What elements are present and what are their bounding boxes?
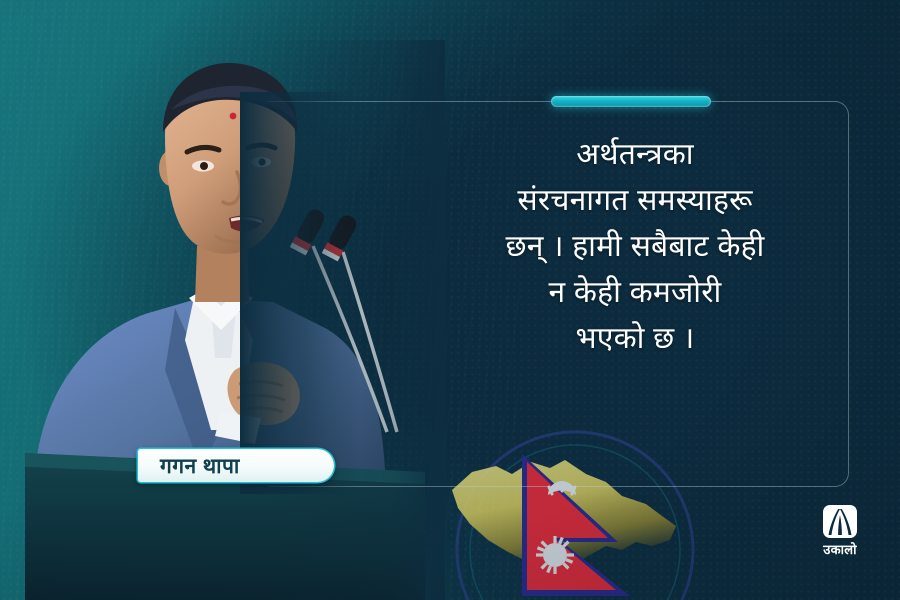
speaker-name-label: गगन थापा xyxy=(160,452,240,480)
nepal-map-flag-emblem xyxy=(400,400,730,600)
quote-line-5: भएको छ । xyxy=(430,316,840,362)
speaker-name-tag: गगन थापा xyxy=(138,449,334,482)
accent-pill-bar xyxy=(551,96,711,107)
ukaalo-logo[interactable]: उकालो xyxy=(812,505,868,565)
quote-line-2: संरचनागत समस्याहरू xyxy=(430,178,840,224)
quote-card-canvas: अर्थतन्त्रका संरचनागत समस्याहरू छन् । हा… xyxy=(0,0,900,600)
quote-text-block: अर्थतन्त्रका संरचनागत समस्याहरू छन् । हा… xyxy=(430,132,840,361)
ukaalo-wordmark: उकालो xyxy=(823,540,857,558)
quote-line-1: अर्थतन्त्रका xyxy=(430,132,840,178)
quote-line-4: न केही कमजोरी xyxy=(430,270,840,316)
speaker-photo xyxy=(25,40,445,600)
uphill-road-icon xyxy=(823,505,857,538)
quote-line-3: छन् । हामी सबैबाट केही xyxy=(430,224,840,270)
